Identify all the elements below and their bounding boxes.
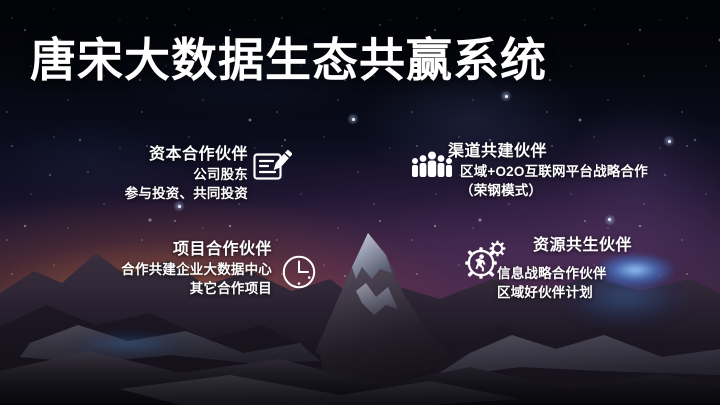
- partner-heading-channel: 渠道共建伙伴: [448, 142, 698, 162]
- presentation-slide: 唐宋大数据生态共赢系统 资本合作伙伴 公司股东 参与投资、共同投资 渠道共建: [0, 0, 720, 405]
- partner-heading-project: 项目合作伙伴: [60, 240, 272, 260]
- contract-pen-icon: [252, 148, 292, 186]
- partner-line-project-1: 合作共建企业大数据中心: [60, 260, 272, 279]
- partner-block-resource: 资源共生伙伴 信息战略合作伙伴 区域好伙伴计划: [497, 236, 697, 302]
- partner-line-resource-2: 区域好伙伴计划: [497, 283, 697, 302]
- people-group-icon: [410, 150, 454, 180]
- partner-block-project: 项目合作伙伴 合作共建企业大数据中心 其它合作项目: [60, 240, 272, 298]
- partner-line-project-2: 其它合作项目: [60, 279, 272, 298]
- partner-line-channel-1: 区域+O2O互联网平台战略合作: [448, 162, 698, 181]
- partner-line-channel-2: （荣钢模式）: [448, 181, 698, 200]
- clock-icon: [281, 254, 317, 290]
- partner-block-capital: 资本合作伙伴 公司股东 参与投资、共同投资: [40, 145, 248, 203]
- partner-line-capital-1: 公司股东: [40, 165, 248, 184]
- page-title: 唐宋大数据生态共赢系统: [30, 33, 547, 87]
- slide-content: 唐宋大数据生态共赢系统 资本合作伙伴 公司股东 参与投资、共同投资 渠道共建: [0, 0, 720, 405]
- partner-heading-resource: 资源共生伙伴: [497, 236, 697, 256]
- partner-line-resource-1: 信息战略合作伙伴: [497, 256, 697, 283]
- gear-person-icon: [462, 236, 508, 282]
- partner-block-channel: 渠道共建伙伴 区域+O2O互联网平台战略合作 （荣钢模式）: [448, 142, 698, 200]
- partner-heading-capital: 资本合作伙伴: [40, 145, 248, 165]
- partner-line-capital-2: 参与投资、共同投资: [40, 184, 248, 203]
